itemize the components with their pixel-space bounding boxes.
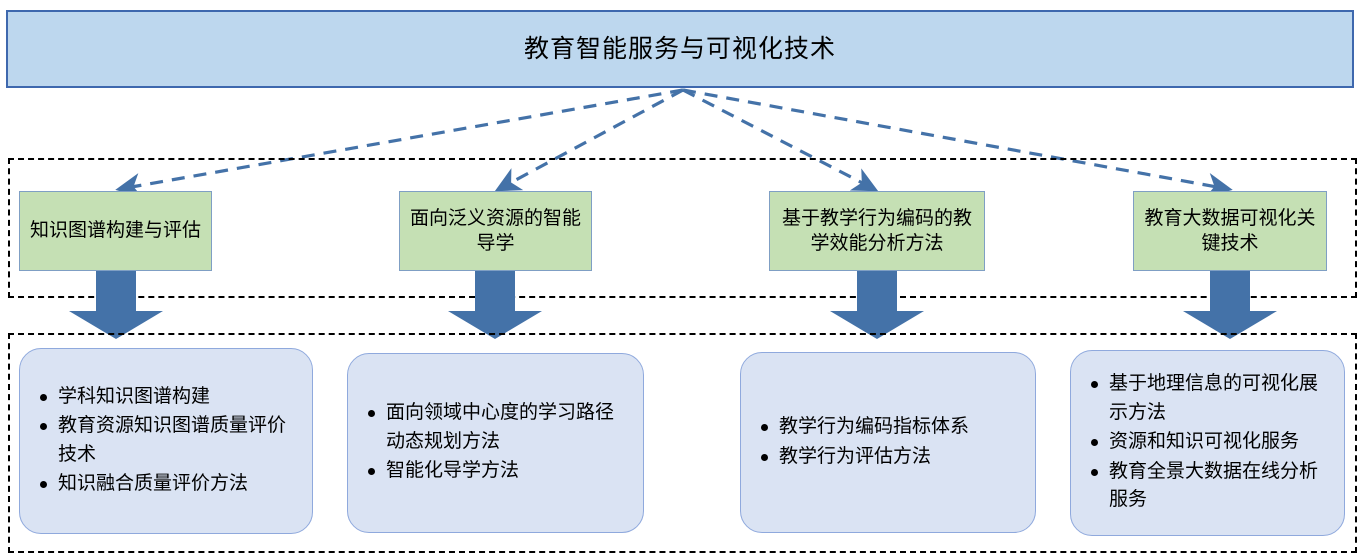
outcome-list-3: 教学行为编码指标体系 教学行为评估方法 bbox=[741, 413, 1035, 472]
list-item: 智能化导学方法 bbox=[364, 457, 629, 486]
header-title-box: 教育智能服务与可视化技术 bbox=[6, 10, 1354, 88]
list-item: 教学行为编码指标体系 bbox=[757, 413, 1021, 442]
outcome-list-2: 面向领域中心度的学习路径动态规划方法 智能化导学方法 bbox=[348, 399, 643, 487]
list-item: 教育资源知识图谱质量评价技术 bbox=[36, 412, 298, 469]
direction-box-4[interactable]: 教育大数据可视化关键技术 bbox=[1133, 191, 1327, 271]
page-title: 教育智能服务与可视化技术 bbox=[524, 34, 836, 64]
direction-label-3: 基于教学行为编码的教学效能分析方法 bbox=[778, 206, 976, 256]
diagram-canvas: 教育智能服务与可视化技术 知识图谱构建与评估 面向泛义资源的智能导学 基于教学行… bbox=[0, 0, 1366, 560]
direction-box-2[interactable]: 面向泛义资源的智能导学 bbox=[399, 191, 592, 271]
block-arrow-down-3 bbox=[830, 271, 924, 339]
outcome-box-4[interactable]: 基于地理信息的可视化展示方法 资源和知识可视化服务 教育全景大数据在线分析服务 bbox=[1070, 350, 1345, 536]
outcome-box-3[interactable]: 教学行为编码指标体系 教学行为评估方法 bbox=[740, 352, 1036, 533]
list-item: 教学行为评估方法 bbox=[757, 443, 1021, 472]
list-item: 教育全景大数据在线分析服务 bbox=[1087, 458, 1330, 515]
list-item: 面向领域中心度的学习路径动态规划方法 bbox=[364, 399, 629, 456]
list-item: 基于地理信息的可视化展示方法 bbox=[1087, 370, 1330, 427]
direction-label-1: 知识图谱构建与评估 bbox=[30, 218, 201, 243]
direction-label-4: 教育大数据可视化关键技术 bbox=[1142, 206, 1318, 256]
outcome-box-2[interactable]: 面向领域中心度的学习路径动态规划方法 智能化导学方法 bbox=[347, 353, 644, 533]
direction-box-3[interactable]: 基于教学行为编码的教学效能分析方法 bbox=[769, 191, 985, 271]
direction-box-1[interactable]: 知识图谱构建与评估 bbox=[19, 191, 212, 271]
outcome-list-4: 基于地理信息的可视化展示方法 资源和知识可视化服务 教育全景大数据在线分析服务 bbox=[1071, 370, 1344, 516]
outcome-list-1: 学科知识图谱构建 教育资源知识图谱质量评价技术 知识融合质量评价方法 bbox=[20, 383, 312, 500]
block-arrow-down-4 bbox=[1183, 271, 1277, 339]
list-item: 学科知识图谱构建 bbox=[36, 383, 298, 412]
list-item: 资源和知识可视化服务 bbox=[1087, 428, 1330, 457]
block-arrow-down-2 bbox=[448, 271, 542, 339]
list-item: 知识融合质量评价方法 bbox=[36, 470, 298, 499]
direction-label-2: 面向泛义资源的智能导学 bbox=[408, 206, 583, 256]
block-arrow-down-1 bbox=[69, 271, 163, 339]
outcome-box-1[interactable]: 学科知识图谱构建 教育资源知识图谱质量评价技术 知识融合质量评价方法 bbox=[19, 348, 313, 534]
